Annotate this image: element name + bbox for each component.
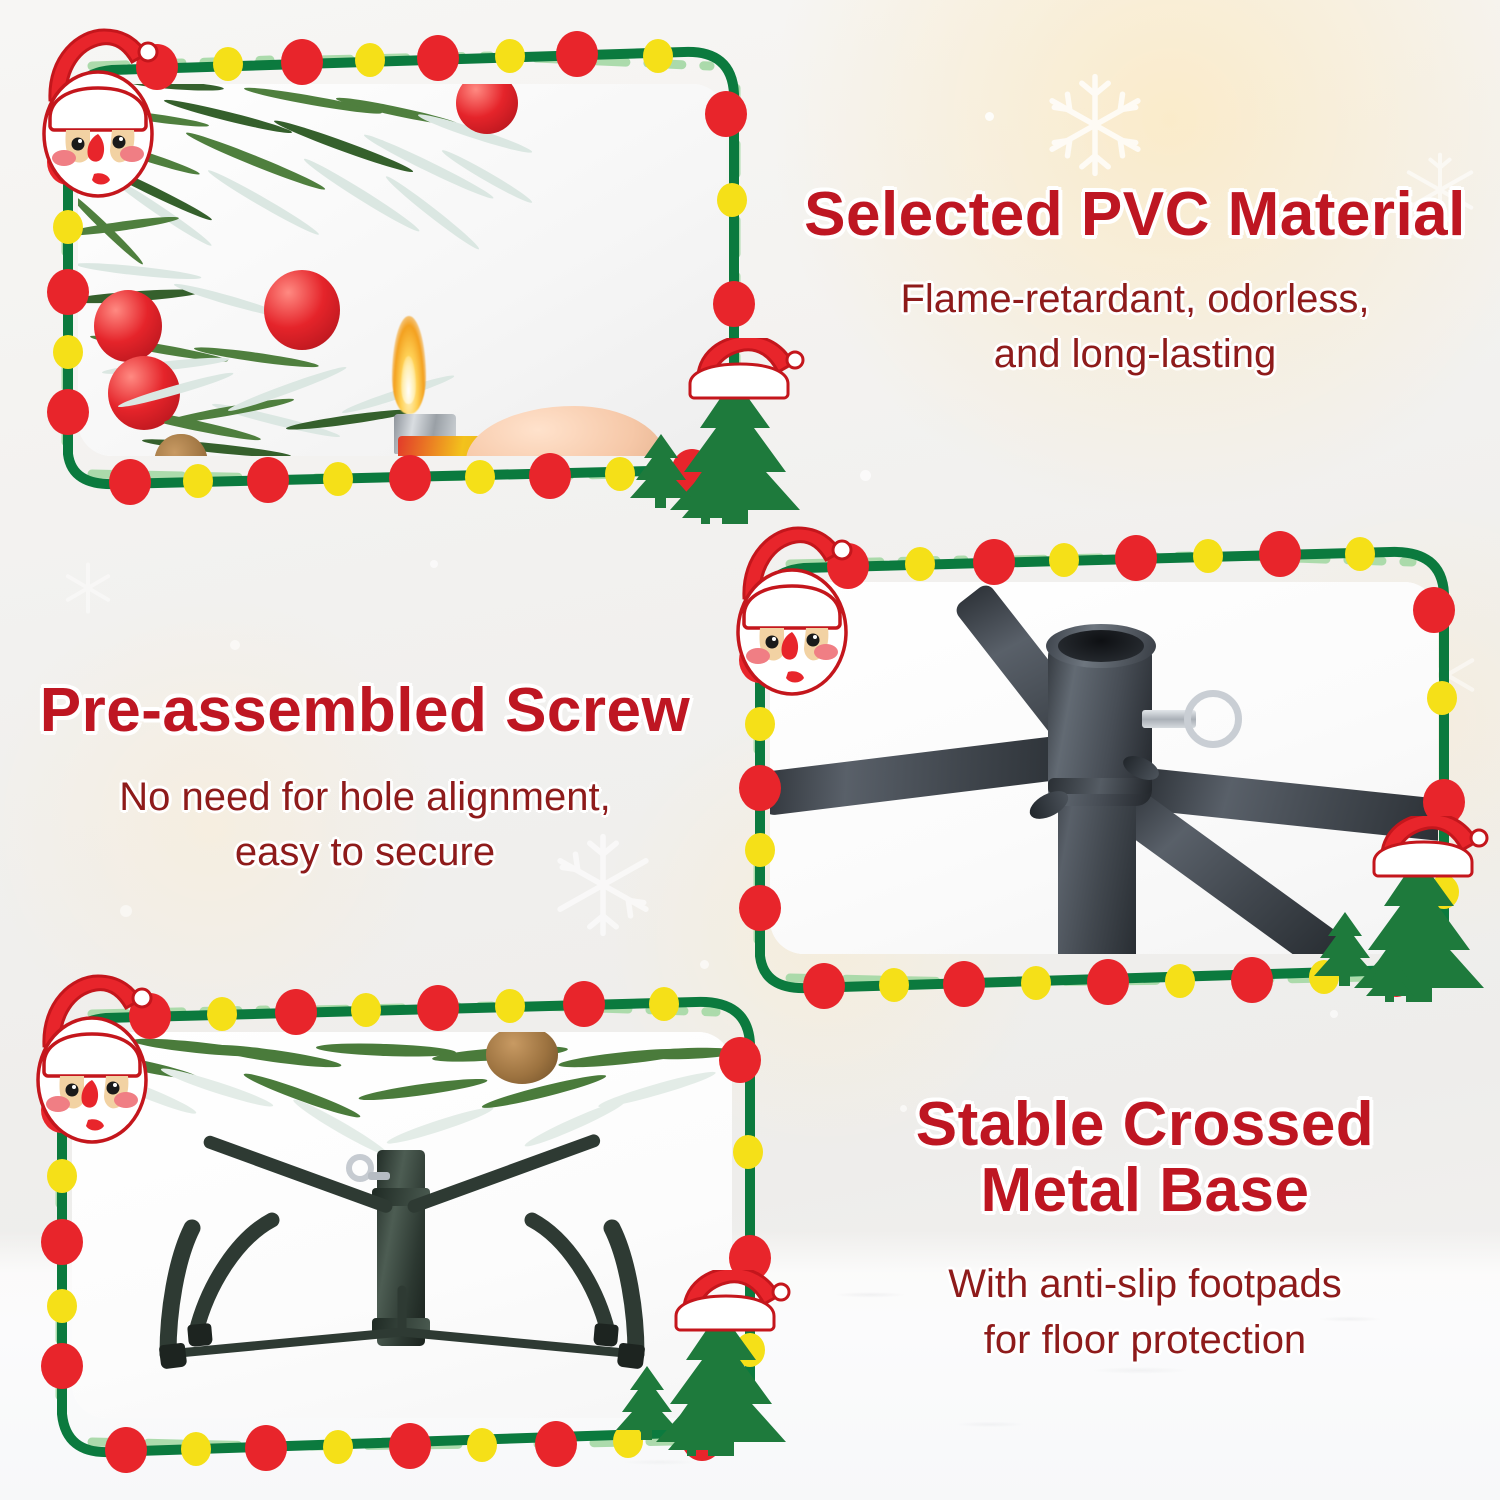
feature-frame-pre-assembled-screw xyxy=(712,516,1492,1016)
christmas-tree-with-hat-icon xyxy=(1312,816,1500,1002)
feature-frame-pvc-material xyxy=(20,22,780,512)
christmas-tree-with-hat-icon xyxy=(614,1270,814,1456)
body-pvc-material-line-2: and long-lasting xyxy=(790,327,1480,382)
headline-pre-assembled-screw: Pre-assembled Screw xyxy=(20,678,710,744)
santa-face-icon xyxy=(20,22,170,212)
snow-dot xyxy=(985,112,994,121)
snow-dot xyxy=(430,560,438,568)
snow-dot xyxy=(860,470,871,481)
snowflake-icon xyxy=(60,560,116,616)
body-pre-assembled-screw-line-1: No need for hole alignment, xyxy=(20,770,710,825)
body-metal-base-line-2: for floor protection xyxy=(810,1313,1480,1368)
snow-dot xyxy=(120,905,132,917)
feature-text-pre-assembled-screw: Pre-assembled Screw No need for hole ali… xyxy=(20,678,710,880)
snow-dot xyxy=(230,640,240,650)
feature-text-metal-base: Stable Crossed Metal Base With anti-slip… xyxy=(810,1092,1480,1368)
headline-metal-base-line-2: Metal Base xyxy=(810,1158,1480,1224)
feature-text-pvc-material: Selected PVC Material Flame-retardant, o… xyxy=(790,182,1480,382)
feature-frame-metal-base xyxy=(10,962,800,1480)
santa-face-icon xyxy=(14,968,164,1158)
body-metal-base-line-1: With anti-slip footpads xyxy=(810,1257,1480,1312)
headline-metal-base-line-1: Stable Crossed xyxy=(810,1092,1480,1158)
christmas-tree-with-hat-icon xyxy=(628,338,828,524)
santa-face-icon xyxy=(714,520,864,710)
snowflake-icon xyxy=(1040,70,1150,180)
headline-pvc-material: Selected PVC Material xyxy=(790,182,1480,248)
body-pvc-material-line-1: Flame-retardant, odorless, xyxy=(790,272,1480,327)
body-pre-assembled-screw-line-2: easy to secure xyxy=(20,825,710,880)
